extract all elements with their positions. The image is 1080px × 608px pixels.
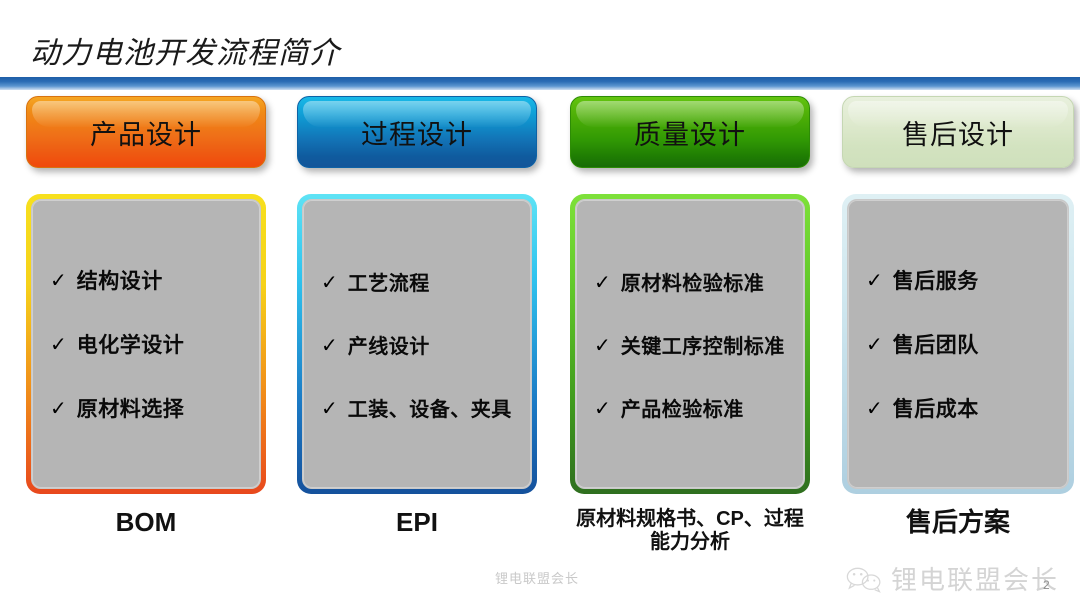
watermark-center: 锂电联盟会长 [495, 568, 579, 587]
list-item-label: 电化学设计 [77, 329, 185, 359]
watermark-corner: 锂电联盟会长 [845, 560, 1059, 597]
list-item-label: 工装、设备、夹具 [348, 393, 512, 422]
column-product-design: 产品设计 ✓ 结构设计 ✓ 电化学设计 ✓ 原材料选择 [26, 96, 266, 168]
list-item-label: 工艺流程 [348, 267, 430, 296]
column-caption: BOM [26, 508, 266, 538]
wechat-icon [845, 565, 883, 593]
header-label: 质量设计 [634, 113, 746, 152]
column-caption: 售后方案 [842, 508, 1074, 538]
column-caption: 原材料规格书、CP、过程能力分析 [570, 508, 810, 554]
bullet-list: ✓ 工艺流程 ✓ 产线设计 ✓ 工装、设备、夹具 [321, 267, 531, 422]
check-icon: ✓ [321, 399, 338, 419]
list-item-label: 原材料检验标准 [621, 267, 765, 296]
list-item: ✓ 原材料检验标准 [594, 267, 804, 296]
list-item: ✓ 售后团队 [866, 329, 1068, 359]
panel-product-design: ✓ 结构设计 ✓ 电化学设计 ✓ 原材料选择 [26, 194, 266, 494]
list-item: ✓ 工艺流程 [321, 267, 531, 296]
column-process-design: 过程设计 ✓ 工艺流程 ✓ 产线设计 ✓ 工装、设备、夹具 [297, 96, 537, 168]
watermark-corner-label: 锂电联盟会长 [891, 560, 1059, 597]
header-label: 售后设计 [902, 113, 1014, 152]
list-item-label: 原材料选择 [77, 393, 185, 423]
list-item: ✓ 结构设计 [50, 265, 260, 295]
bullet-list: ✓ 结构设计 ✓ 电化学设计 ✓ 原材料选择 [50, 265, 260, 423]
check-icon: ✓ [321, 273, 338, 293]
check-icon: ✓ [321, 336, 338, 356]
header-button-product-design[interactable]: 产品设计 [26, 96, 266, 168]
header-button-quality-design[interactable]: 质量设计 [570, 96, 810, 168]
page-number: 2 [1043, 578, 1050, 592]
list-item: ✓ 原材料选择 [50, 393, 260, 423]
column-caption: EPI [297, 508, 537, 538]
title-divider [0, 77, 1080, 90]
check-icon: ✓ [866, 271, 883, 291]
list-item: ✓ 售后成本 [866, 393, 1068, 423]
check-icon: ✓ [594, 399, 611, 419]
list-item-label: 售后成本 [893, 393, 979, 423]
bullet-list: ✓ 原材料检验标准 ✓ 关键工序控制标准 ✓ 产品检验标准 [594, 267, 804, 422]
list-item: ✓ 工装、设备、夹具 [321, 393, 531, 422]
check-icon: ✓ [866, 399, 883, 419]
list-item-label: 售后团队 [893, 329, 979, 359]
list-item: ✓ 关键工序控制标准 [594, 330, 804, 359]
list-item-label: 产线设计 [348, 330, 430, 359]
check-icon: ✓ [594, 273, 611, 293]
list-item-label: 产品检验标准 [621, 393, 744, 422]
process-columns: 产品设计 ✓ 结构设计 ✓ 电化学设计 ✓ 原材料选择 [0, 96, 1080, 596]
list-item-label: 关键工序控制标准 [621, 330, 785, 359]
check-icon: ✓ [50, 271, 67, 291]
panel-aftersales-design: ✓ 售后服务 ✓ 售后团队 ✓ 售后成本 [842, 194, 1074, 494]
check-icon: ✓ [50, 335, 67, 355]
column-quality-design: 质量设计 ✓ 原材料检验标准 ✓ 关键工序控制标准 ✓ 产品检验标准 [570, 96, 810, 168]
check-icon: ✓ [50, 399, 67, 419]
list-item: ✓ 售后服务 [866, 265, 1068, 295]
bullet-list: ✓ 售后服务 ✓ 售后团队 ✓ 售后成本 [866, 265, 1068, 423]
list-item: ✓ 产线设计 [321, 330, 531, 359]
column-aftersales-design: 售后设计 ✓ 售后服务 ✓ 售后团队 ✓ 售后成本 [842, 96, 1074, 168]
panel-process-design: ✓ 工艺流程 ✓ 产线设计 ✓ 工装、设备、夹具 [297, 194, 537, 494]
list-item-label: 售后服务 [893, 265, 979, 295]
header-button-aftersales-design[interactable]: 售后设计 [842, 96, 1074, 168]
panel-quality-design: ✓ 原材料检验标准 ✓ 关键工序控制标准 ✓ 产品检验标准 [570, 194, 810, 494]
header-label: 产品设计 [90, 113, 202, 152]
check-icon: ✓ [866, 335, 883, 355]
page-title: 动力电池开发流程简介 [30, 28, 340, 72]
list-item-label: 结构设计 [77, 265, 163, 295]
check-icon: ✓ [594, 336, 611, 356]
header-label: 过程设计 [361, 113, 473, 152]
list-item: ✓ 电化学设计 [50, 329, 260, 359]
header-button-process-design[interactable]: 过程设计 [297, 96, 537, 168]
list-item: ✓ 产品检验标准 [594, 393, 804, 422]
